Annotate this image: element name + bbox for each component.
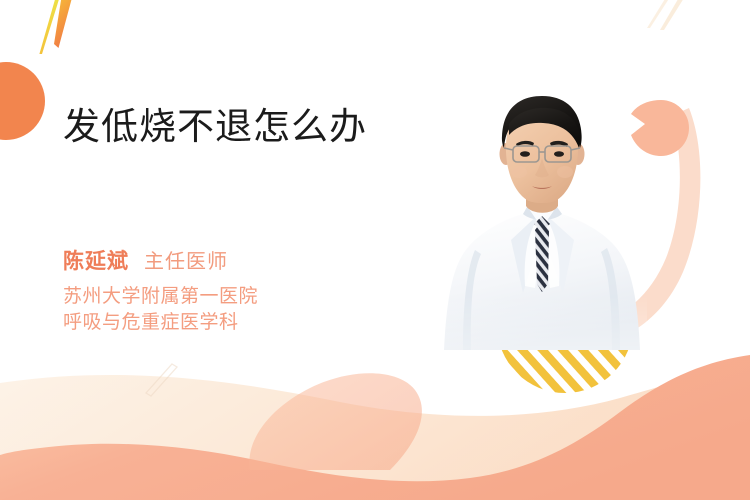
doctor-head [500,96,585,203]
doctor-hospital: 苏州大学附属第一医院 [63,284,463,310]
doctor-info-block: 陈延斌 主任医师 苏州大学附属第一医院 呼吸与危重症医学科 [63,245,463,336]
doctor-department: 呼吸与危重症医学科 [63,310,463,336]
faint-diagonal-lines-icon [647,0,687,30]
doctor-portrait [437,88,647,350]
orange-circle-icon [0,62,45,140]
page-title: 发低烧不退怎么办 [63,105,443,149]
headline-block: 发低烧不退怎么办 [63,105,443,149]
diagonal-orange-stripe-icon [54,0,73,48]
doctor-rank: 主任医师 [144,245,228,274]
doctor-name: 陈延斌 [63,245,129,275]
doctor-name-row: 陈延斌 主任医师 [63,245,463,275]
video-cover-card: 发低烧不退怎么办 陈延斌 主任医师 苏州大学附属第一医院 呼吸与危重症医学科 [0,0,750,500]
